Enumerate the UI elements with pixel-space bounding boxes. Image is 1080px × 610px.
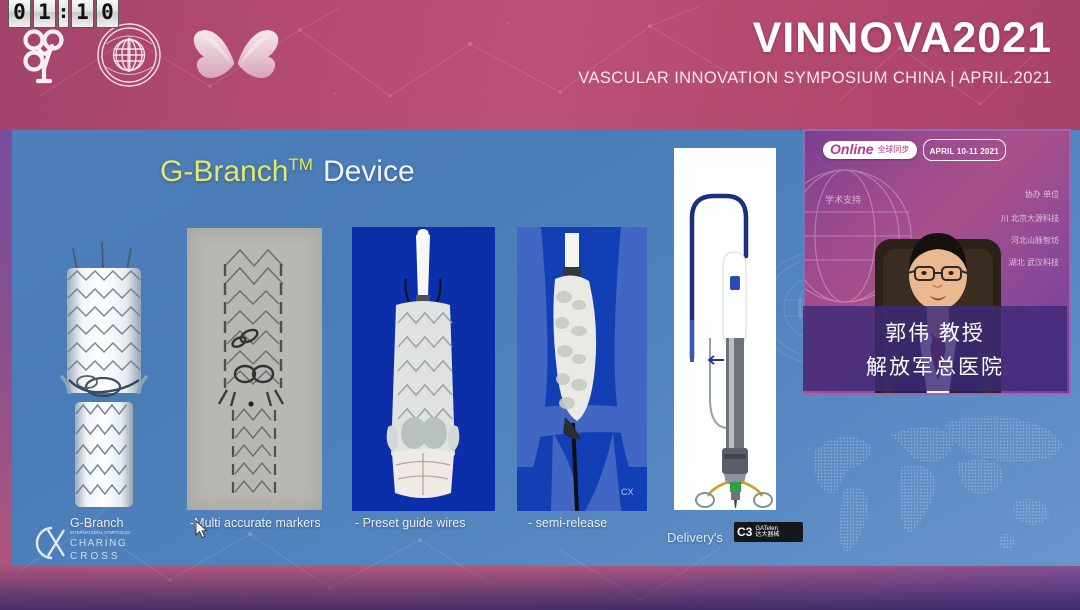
- online-label: Online: [830, 142, 874, 157]
- timer-separator: :: [58, 0, 69, 28]
- backdrop-text-right-0: 协办 单位: [1025, 189, 1059, 200]
- speaker-organization: 解放军总医院: [866, 351, 1004, 381]
- slide-title-plain: Device: [323, 155, 415, 188]
- event-title: VINNOVA2021: [578, 16, 1052, 61]
- speaker-name: 郭伟 教授: [885, 317, 985, 347]
- partner-logos: [18, 22, 284, 93]
- online-badge: Online 全球同步: [823, 141, 917, 158]
- bottom-gradient-overlay: [0, 564, 1080, 610]
- event-subtitle: VASCULAR INNOVATION SYMPOSIUM CHINA | AP…: [578, 69, 1052, 88]
- online-label-cn: 全球同步: [878, 146, 910, 155]
- timer-digit: 1: [71, 0, 94, 28]
- event-date-label: APRIL 10-11 2021: [930, 147, 999, 156]
- event-banner: VINNOVA2021 VASCULAR INNOVATION SYMPOSIU…: [0, 0, 1080, 130]
- mouse-pointer-icon: [195, 520, 208, 539]
- countdown-timer: 0 1 : 1 0: [8, 0, 119, 28]
- timer-digit: 1: [33, 0, 56, 28]
- butterfly-wings-logo: [188, 24, 284, 91]
- event-date-badge: APRIL 10-11 2021: [923, 139, 1006, 161]
- slide-title-trademark: TM: [288, 155, 313, 174]
- speaker-name-plate: 郭伟 教授 解放军总医院: [803, 306, 1067, 391]
- slide-title-brand: G-Branch: [160, 155, 288, 188]
- backdrop-text-left: 学术支持: [825, 193, 861, 206]
- globe-seal-logo: [96, 22, 162, 93]
- online-banner: Online 全球同步 APRIL 10-11 2021: [823, 139, 1006, 161]
- timer-digit: 0: [96, 0, 119, 28]
- backdrop-text-right-1: 川 北京大源科技: [1001, 213, 1059, 224]
- video-player-stage: VINNOVA2021 VASCULAR INNOVATION SYMPOSIU…: [0, 0, 1080, 610]
- timer-digit: 0: [8, 0, 31, 28]
- knot-logo: [18, 24, 70, 91]
- backdrop-text-right-3: 湖北 武汉科技: [1009, 257, 1059, 268]
- slide-title: G-BranchTMDevice: [160, 155, 415, 189]
- backdrop-text-right-2: 河北山脉智坊: [1011, 235, 1059, 246]
- event-title-block: VINNOVA2021 VASCULAR INNOVATION SYMPOSIU…: [578, 16, 1052, 88]
